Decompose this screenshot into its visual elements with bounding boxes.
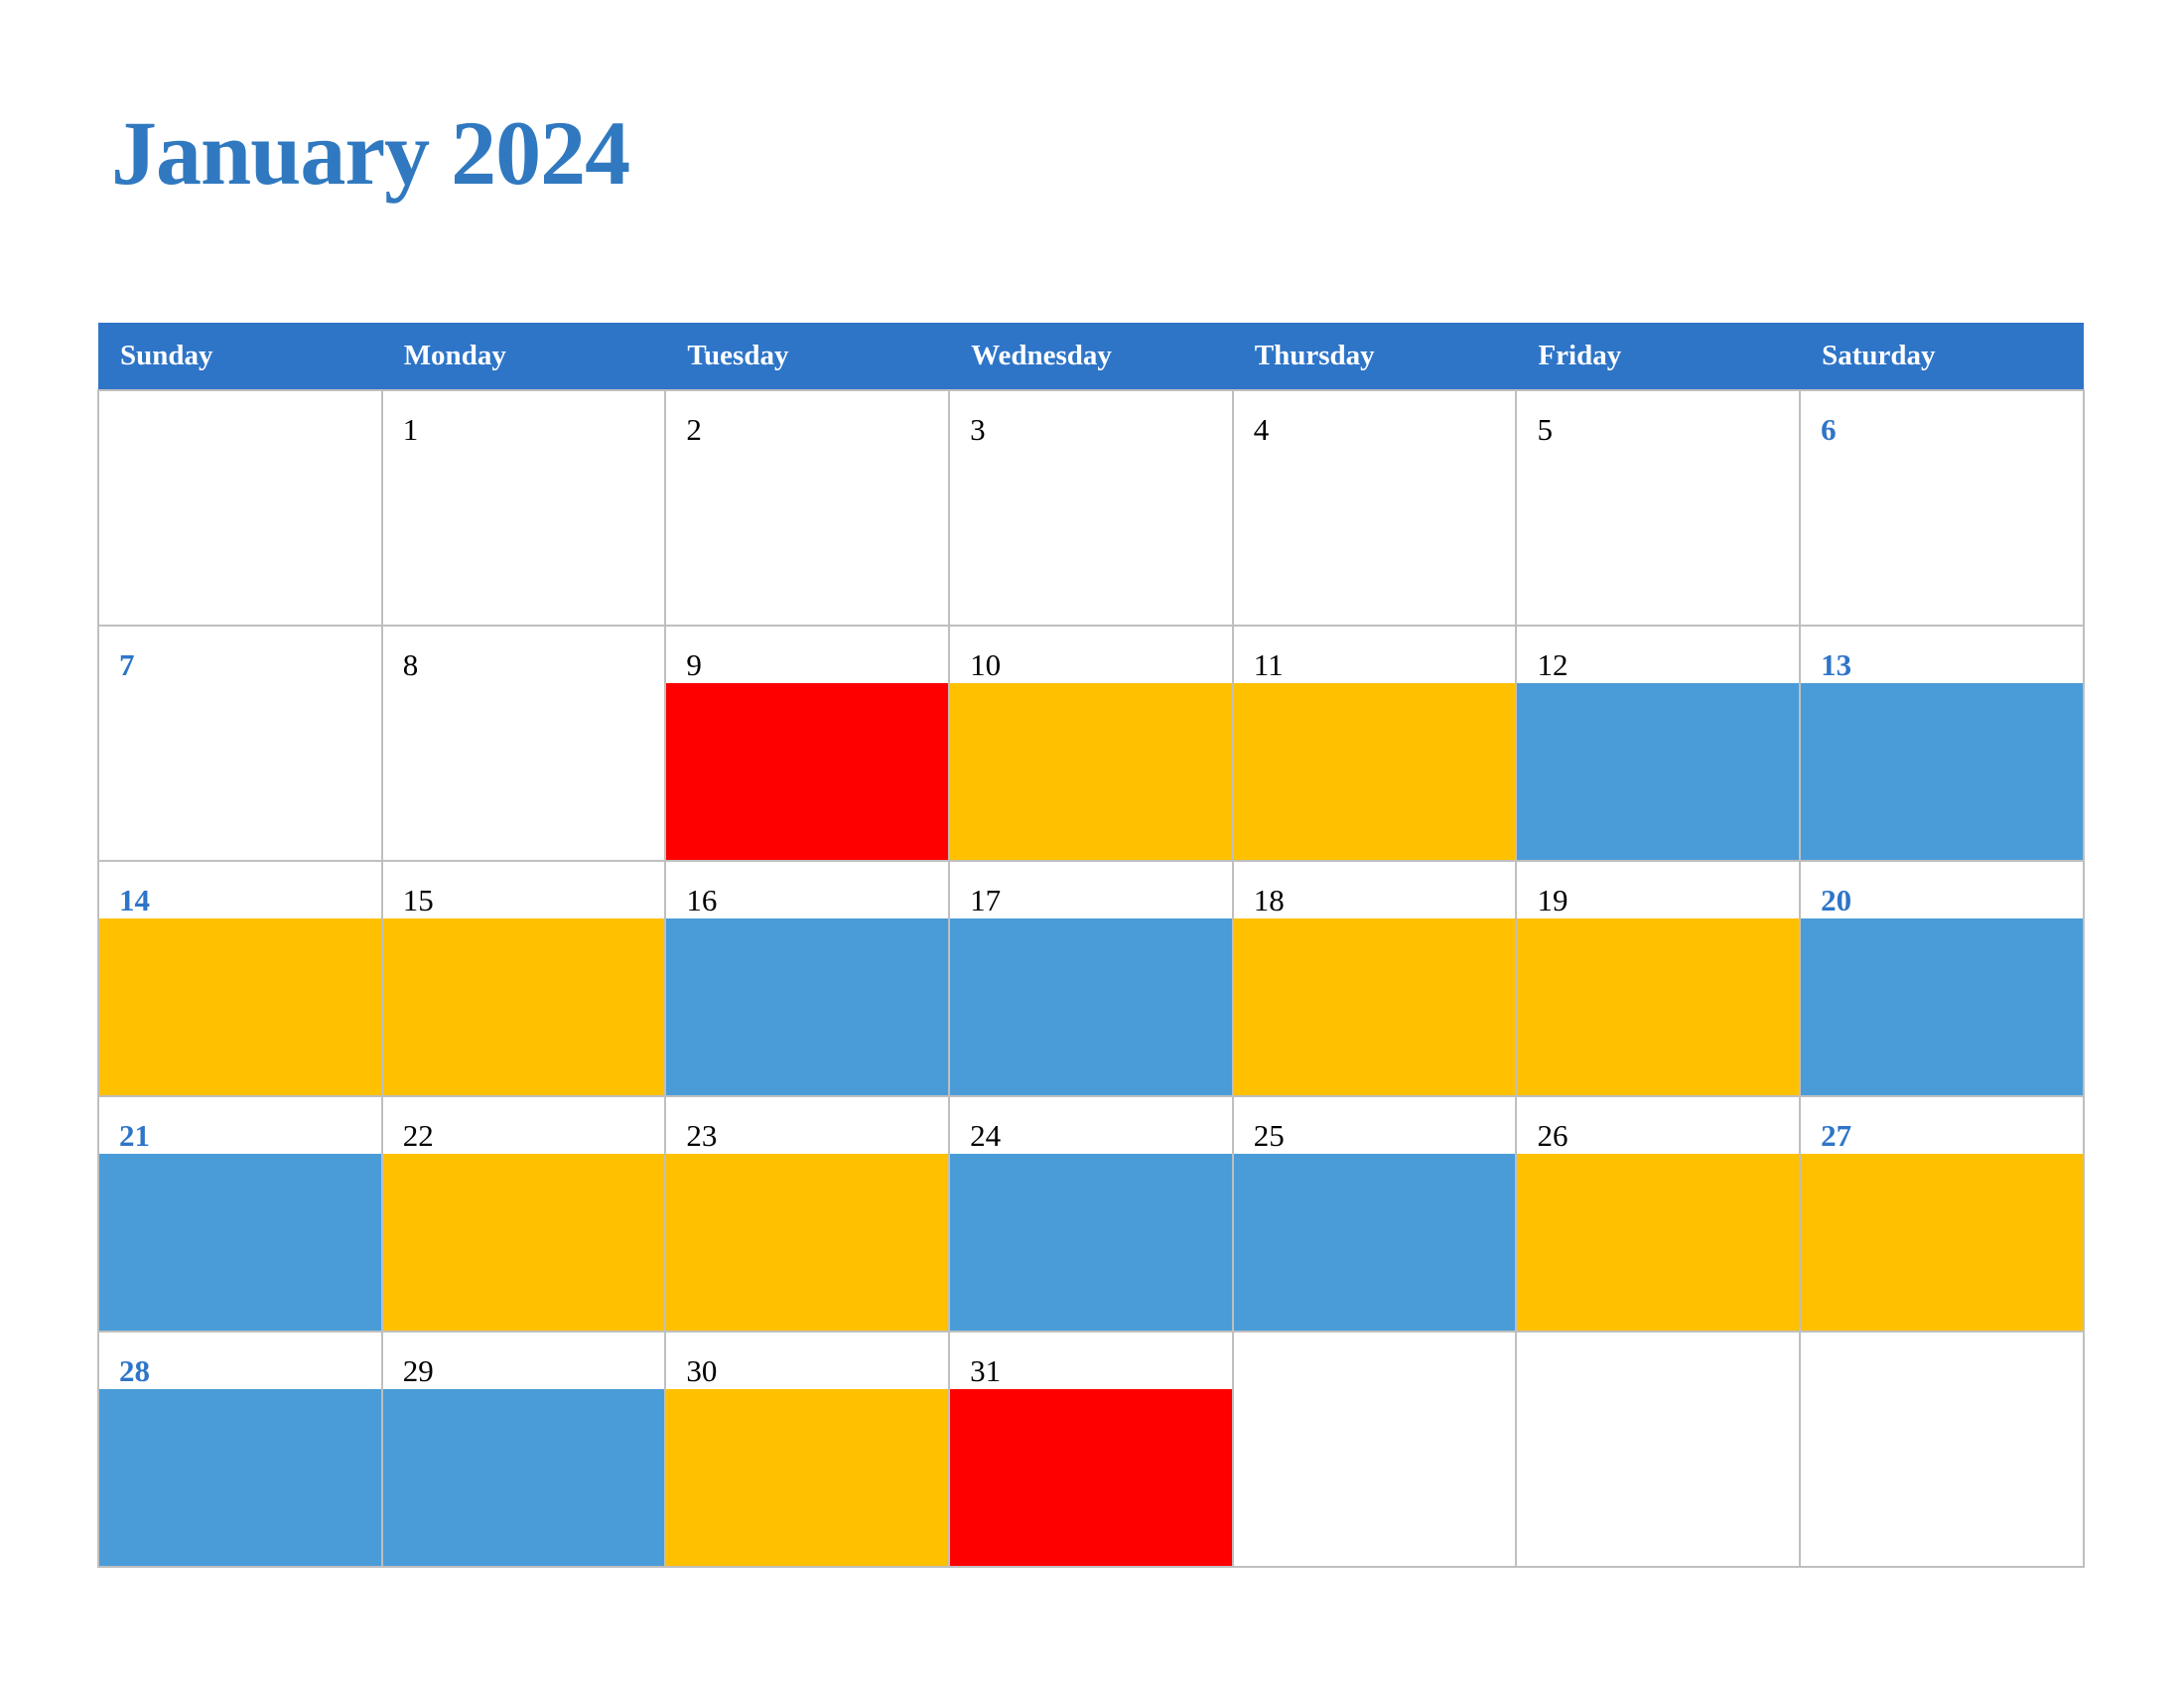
day-number: 8 xyxy=(383,627,665,683)
calendar-header-row: SundayMondayTuesdayWednesdayThursdayFrid… xyxy=(98,323,2084,390)
day-event-block-yellow[interactable] xyxy=(383,1154,665,1331)
day-cell-8[interactable]: 8 xyxy=(382,626,666,861)
day-cell-18[interactable]: 18 xyxy=(1233,861,1517,1096)
day-cell-empty[interactable] xyxy=(98,390,382,626)
day-number: 22 xyxy=(383,1097,665,1154)
day-number: 28 xyxy=(99,1333,381,1389)
day-number: 26 xyxy=(1517,1097,1799,1154)
day-cell-16[interactable]: 16 xyxy=(665,861,949,1096)
day-cell-6[interactable]: 6 xyxy=(1800,390,2084,626)
weekday-header-row: SundayMondayTuesdayWednesdayThursdayFrid… xyxy=(98,323,2084,390)
day-cell-27[interactable]: 27 xyxy=(1800,1096,2084,1332)
day-number: 5 xyxy=(1517,391,1799,448)
day-event-block-blue[interactable] xyxy=(99,1389,381,1566)
day-number: 6 xyxy=(1801,391,2083,448)
day-number: 23 xyxy=(666,1097,948,1154)
day-event-block-blue[interactable] xyxy=(1517,683,1799,860)
day-event-block-yellow[interactable] xyxy=(666,1389,948,1566)
day-number: 31 xyxy=(950,1333,1232,1389)
day-cell-10[interactable]: 10 xyxy=(949,626,1233,861)
day-event-block-yellow[interactable] xyxy=(1801,1154,2083,1331)
day-cell-31[interactable]: 31 xyxy=(949,1332,1233,1567)
day-cell-9[interactable]: 9 xyxy=(665,626,949,861)
day-number: 2 xyxy=(666,391,948,448)
day-cell-7[interactable]: 7 xyxy=(98,626,382,861)
day-cell-22[interactable]: 22 xyxy=(382,1096,666,1332)
weekday-header-saturday: Saturday xyxy=(1800,323,2084,390)
day-number: 19 xyxy=(1517,862,1799,918)
day-event-block-none[interactable] xyxy=(383,683,665,860)
day-event-block-yellow[interactable] xyxy=(1517,918,1799,1095)
day-number: 1 xyxy=(383,391,665,448)
day-event-block-yellow[interactable] xyxy=(950,683,1232,860)
day-event-block-yellow[interactable] xyxy=(383,918,665,1095)
day-number: 18 xyxy=(1234,862,1516,918)
day-number: 14 xyxy=(99,862,381,918)
day-number: 29 xyxy=(383,1333,665,1389)
day-event-block-yellow[interactable] xyxy=(1234,918,1516,1095)
day-event-block-blue[interactable] xyxy=(1234,1154,1516,1331)
day-event-block-none[interactable] xyxy=(383,448,665,625)
day-number: 25 xyxy=(1234,1097,1516,1154)
day-cell-19[interactable]: 19 xyxy=(1516,861,1800,1096)
day-number: 21 xyxy=(99,1097,381,1154)
day-cell-23[interactable]: 23 xyxy=(665,1096,949,1332)
day-cell-empty[interactable] xyxy=(1516,1332,1800,1567)
day-event-block-none[interactable] xyxy=(666,448,948,625)
day-cell-17[interactable]: 17 xyxy=(949,861,1233,1096)
calendar-table: SundayMondayTuesdayWednesdayThursdayFrid… xyxy=(97,323,2085,1568)
day-cell-20[interactable]: 20 xyxy=(1800,861,2084,1096)
weekday-header-friday: Friday xyxy=(1516,323,1800,390)
weekday-header-wednesday: Wednesday xyxy=(949,323,1233,390)
day-event-block-none[interactable] xyxy=(99,448,381,625)
day-event-block-yellow[interactable] xyxy=(1517,1154,1799,1331)
day-event-block-blue[interactable] xyxy=(1801,683,2083,860)
day-cell-13[interactable]: 13 xyxy=(1800,626,2084,861)
day-cell-12[interactable]: 12 xyxy=(1516,626,1800,861)
day-number: 3 xyxy=(950,391,1232,448)
day-cell-empty[interactable] xyxy=(1233,1332,1517,1567)
day-event-block-red[interactable] xyxy=(666,683,948,860)
day-cell-11[interactable]: 11 xyxy=(1233,626,1517,861)
day-cell-29[interactable]: 29 xyxy=(382,1332,666,1567)
day-event-block-none[interactable] xyxy=(1517,1389,1799,1566)
day-number: 17 xyxy=(950,862,1232,918)
day-cell-3[interactable]: 3 xyxy=(949,390,1233,626)
day-number: 24 xyxy=(950,1097,1232,1154)
day-cell-21[interactable]: 21 xyxy=(98,1096,382,1332)
day-event-block-blue[interactable] xyxy=(666,918,948,1095)
day-cell-28[interactable]: 28 xyxy=(98,1332,382,1567)
weekday-header-tuesday: Tuesday xyxy=(665,323,949,390)
day-cell-5[interactable]: 5 xyxy=(1516,390,1800,626)
day-number: 16 xyxy=(666,862,948,918)
weekday-header-sunday: Sunday xyxy=(98,323,382,390)
calendar-container: SundayMondayTuesdayWednesdayThursdayFrid… xyxy=(97,323,2083,1568)
day-cell-1[interactable]: 1 xyxy=(382,390,666,626)
day-cell-2[interactable]: 2 xyxy=(665,390,949,626)
day-event-block-blue[interactable] xyxy=(99,1154,381,1331)
calendar-week-row: 21222324252627 xyxy=(98,1096,2084,1332)
day-cell-26[interactable]: 26 xyxy=(1516,1096,1800,1332)
day-number: 13 xyxy=(1801,627,2083,683)
calendar-week-row: 78910111213 xyxy=(98,626,2084,861)
day-event-block-blue[interactable] xyxy=(950,918,1232,1095)
day-event-block-none[interactable] xyxy=(1801,448,2083,625)
weekday-header-monday: Monday xyxy=(382,323,666,390)
day-event-block-none[interactable] xyxy=(1517,448,1799,625)
day-cell-25[interactable]: 25 xyxy=(1233,1096,1517,1332)
day-cell-4[interactable]: 4 xyxy=(1233,390,1517,626)
day-event-block-none[interactable] xyxy=(1801,1389,2083,1566)
day-event-block-blue[interactable] xyxy=(950,1154,1232,1331)
day-cell-15[interactable]: 15 xyxy=(382,861,666,1096)
calendar-week-row: 14151617181920 xyxy=(98,861,2084,1096)
day-number: 9 xyxy=(666,627,948,683)
day-number: 15 xyxy=(383,862,665,918)
day-event-block-none[interactable] xyxy=(99,683,381,860)
calendar-week-row: 28293031 xyxy=(98,1332,2084,1567)
day-event-block-yellow[interactable] xyxy=(1234,683,1516,860)
calendar-week-row: 123456 xyxy=(98,390,2084,626)
day-event-block-blue[interactable] xyxy=(1801,918,2083,1095)
day-number: 10 xyxy=(950,627,1232,683)
day-number: 20 xyxy=(1801,862,2083,918)
page-title: January 2024 xyxy=(111,107,629,199)
weekday-header-thursday: Thursday xyxy=(1233,323,1517,390)
day-number: 12 xyxy=(1517,627,1799,683)
calendar-body: 1234567891011121314151617181920212223242… xyxy=(98,390,2084,1567)
day-number: 30 xyxy=(666,1333,948,1389)
day-event-block-blue[interactable] xyxy=(383,1389,665,1566)
calendar-page: January 2024 SundayMondayTuesdayWednesda… xyxy=(0,0,2184,1688)
day-event-block-none[interactable] xyxy=(1234,448,1516,625)
day-number: 7 xyxy=(99,627,381,683)
day-number: 4 xyxy=(1234,391,1516,448)
day-event-block-none[interactable] xyxy=(1234,1389,1516,1566)
day-cell-24[interactable]: 24 xyxy=(949,1096,1233,1332)
day-event-block-red[interactable] xyxy=(950,1389,1232,1566)
day-event-block-yellow[interactable] xyxy=(666,1154,948,1331)
day-number: 27 xyxy=(1801,1097,2083,1154)
day-cell-30[interactable]: 30 xyxy=(665,1332,949,1567)
day-cell-14[interactable]: 14 xyxy=(98,861,382,1096)
day-number: 11 xyxy=(1234,627,1516,683)
day-event-block-yellow[interactable] xyxy=(99,918,381,1095)
day-event-block-none[interactable] xyxy=(950,448,1232,625)
day-cell-empty[interactable] xyxy=(1800,1332,2084,1567)
